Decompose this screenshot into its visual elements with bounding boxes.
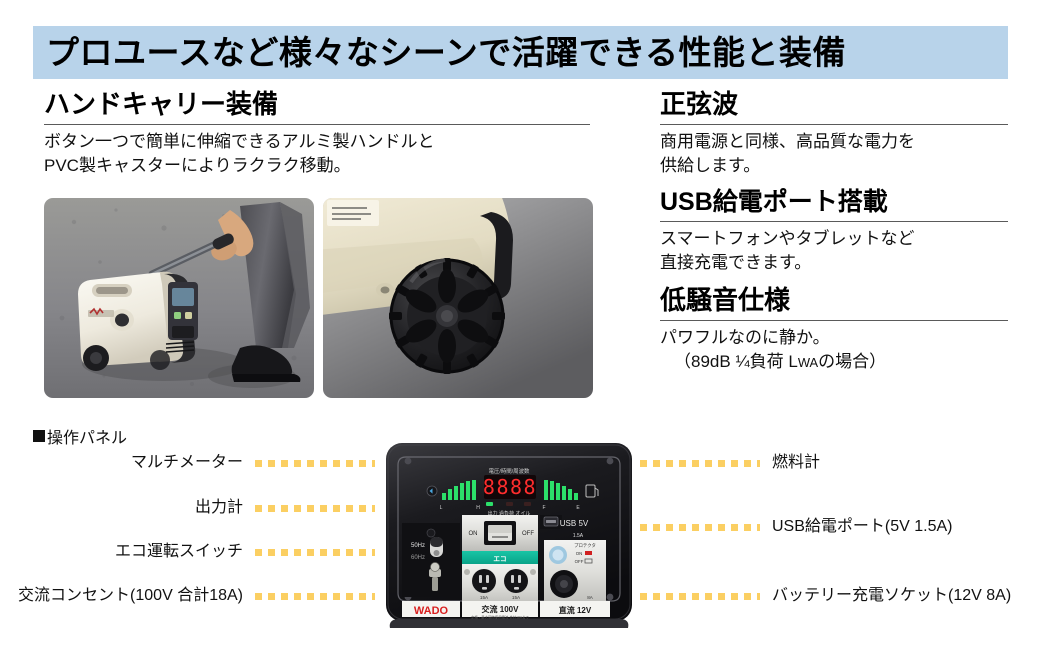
dc-output-label: 直流 12V xyxy=(559,605,592,615)
feature-low-noise-body-line1: パワフルなのに静か。 xyxy=(660,326,1008,350)
feature-low-noise-heading: 低騒音仕様 xyxy=(660,284,1008,317)
left-column-body-line1: ボタン一つで簡単に伸縮できるアルミ製ハンドルと xyxy=(44,130,590,154)
freq-50hz-label: 50Hz xyxy=(411,543,425,549)
callout-fuel-gauge-label: 燃料計 xyxy=(772,455,820,471)
callout-ac-outlet-label: 交流コンセント(100V 合計18A) xyxy=(18,588,243,604)
ac-outlet-right xyxy=(504,569,528,593)
photo-hand-carry-image xyxy=(44,198,314,398)
callout-output-meter-leader xyxy=(255,505,375,512)
callout-battery-socket-leader xyxy=(640,593,760,600)
callout-output-meter-label: 出力計 xyxy=(195,500,243,516)
feature-low-noise: 低騒音仕様 パワフルなのに静か。 （89dB ¼負荷 LWAの場合） xyxy=(660,284,1008,374)
protector-switch xyxy=(549,546,567,564)
left-column-body-line2: PVC製キャスターによりラクラク移動。 xyxy=(44,154,590,178)
feature-usb-port-body-line1: スマートフォンやタブレットなど xyxy=(660,227,1008,251)
callout-eco-switch-leader xyxy=(255,549,375,556)
callout-eco-switch-label: エコ運転スイッチ xyxy=(115,544,243,560)
callout-usb-port: USB給電ポート(5V 1.5A) xyxy=(640,519,1035,535)
ac-outlet-right-amp: 15A xyxy=(512,595,521,600)
ac-outlet-left-amp: 15A xyxy=(480,595,489,600)
right-feature-column: 正弦波 商用電源と同様、高品質な電力を 供給します。 USB給電ポート搭載 スマ… xyxy=(660,88,1008,374)
feature-usb-port-body-line2: 直接充電できます。 xyxy=(660,251,1008,275)
callout-battery-socket: バッテリー充電ソケット(12V 8A) xyxy=(640,588,1035,604)
meter-left-low-label: L xyxy=(440,505,443,511)
noise-load-middle: 負荷 L xyxy=(750,352,798,371)
callout-ac-outlet-leader xyxy=(255,593,375,600)
noise-lwa-subscript: WA xyxy=(798,355,818,370)
feature-usb-port-divider xyxy=(660,221,1008,222)
feature-low-noise-body-line2: （89dB ¼負荷 LWAの場合） xyxy=(660,350,1008,374)
protector-off-label: OFF xyxy=(575,559,584,564)
noise-load-fraction: ¼ xyxy=(735,352,749,371)
photo-gallery xyxy=(44,198,593,398)
feature-sine-wave-body-line1: 商用電源と同様、高品質な電力を xyxy=(660,130,1008,154)
left-column-heading: ハンドキャリー装備 xyxy=(44,88,590,121)
photo-hand-carry xyxy=(44,198,314,398)
frequency-selector-switch xyxy=(430,537,443,557)
page-title: プロユースなど様々なシーンで活躍できる性能と装備 xyxy=(33,36,846,69)
photo-caster-wheel xyxy=(323,198,593,398)
left-column-divider xyxy=(44,124,590,125)
meter-left-high-label: H xyxy=(476,505,480,511)
control-panel-photo: 電圧/時間/周波数 L H 8888 出力 過負荷 オイル xyxy=(378,441,640,637)
usb-port-amp: 1.5A xyxy=(573,533,584,539)
protector-on-label: ON xyxy=(576,551,583,556)
meter-display-caption: 電圧/時間/周波数 xyxy=(489,467,530,475)
control-panel-section-label-text: 操作パネル xyxy=(47,424,127,448)
callout-eco-switch: エコ運転スイッチ xyxy=(20,544,375,560)
callout-usb-port-leader xyxy=(640,524,760,531)
feature-sine-wave-body-line2: 供給します。 xyxy=(660,154,1008,178)
photo-caster-wheel-image xyxy=(323,198,593,398)
feature-sine-wave-divider xyxy=(660,124,1008,125)
usb-port-label: USB 5V xyxy=(560,519,589,528)
feature-usb-port: USB給電ポート搭載 スマートフォンやタブレットなど 直接充電できます。 xyxy=(660,187,1008,276)
callout-multimeter: マルチメーター xyxy=(20,455,375,471)
callout-battery-socket-label: バッテリー充電ソケット(12V 8A) xyxy=(772,588,1011,604)
eco-rocker-switch xyxy=(484,521,516,545)
bullet-square-icon xyxy=(33,430,45,442)
callout-multimeter-label: マルチメーター xyxy=(131,455,243,471)
control-panel-image: 電圧/時間/周波数 L H 8888 出力 過負荷 オイル xyxy=(378,441,640,637)
feature-low-noise-divider xyxy=(660,320,1008,321)
eco-mode-band-label: エコ xyxy=(493,555,506,563)
callout-multimeter-leader xyxy=(255,460,375,467)
callout-usb-port-label: USB給電ポート(5V 1.5A) xyxy=(772,519,953,535)
callout-fuel-gauge-leader xyxy=(640,460,760,467)
feature-sine-wave-heading: 正弦波 xyxy=(660,88,1008,121)
noise-value-prefix: （89dB xyxy=(674,352,735,371)
ac-output-label: 交流 100V xyxy=(482,604,520,614)
led-display: 8888 xyxy=(483,475,537,499)
protector-label: プロテクタ xyxy=(574,542,596,549)
eco-switch-off-label: OFF xyxy=(522,531,534,537)
header-banner: プロユースなど様々なシーンで活躍できる性能と装備 xyxy=(33,26,1008,79)
callout-ac-outlet: 交流コンセント(100V 合計18A) xyxy=(20,588,375,604)
dc-charging-socket xyxy=(550,570,578,598)
control-panel-section-label: 操作パネル xyxy=(33,424,127,448)
feature-sine-wave: 正弦波 商用電源と同様、高品質な電力を 供給します。 xyxy=(660,88,1008,178)
callout-output-meter: 出力計 xyxy=(20,500,375,516)
left-feature-column: ハンドキャリー装備 ボタン一つで簡単に伸縮できるアルミ製ハンドルと PVC製キャ… xyxy=(44,88,590,178)
feature-usb-port-heading: USB給電ポート搭載 xyxy=(660,187,1008,218)
noise-value-suffix: の場合） xyxy=(818,352,886,371)
callout-fuel-gauge: 燃料計 xyxy=(640,455,1035,471)
svg-text:8888: 8888 xyxy=(483,475,537,499)
ac-outlet-left xyxy=(472,569,496,593)
ac-output-note: 定格・最大同時使用電流 合計18Aまで xyxy=(471,615,529,620)
meter-right-full-label: F xyxy=(542,505,545,511)
eco-switch-on-label: ON xyxy=(469,531,478,537)
usb-port xyxy=(544,517,558,526)
dc-socket-amp: 8A xyxy=(587,595,594,600)
brand-logo: WADO xyxy=(414,605,449,617)
freq-60hz-label: 60Hz xyxy=(411,555,425,561)
